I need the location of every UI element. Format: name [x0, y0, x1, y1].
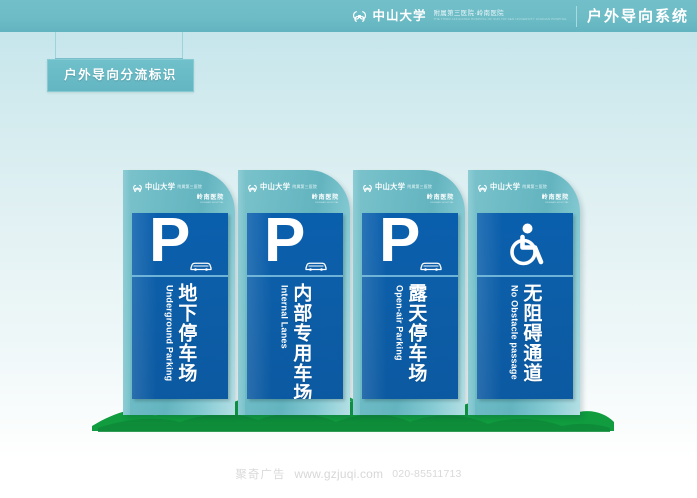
- sign-text-area: 无阻碍通道 No Obstacle passage: [477, 277, 573, 399]
- sign-hospital-block: 岭南医院 LINGNAN HOSPITAL: [542, 195, 571, 204]
- sign-label-cn: 内部专用车场: [291, 283, 311, 399]
- sign-text-area: 露天停车场 Open-air Parking: [362, 277, 458, 399]
- sign-hospital-cn: 岭南医院: [542, 195, 569, 201]
- parking-symbol: P: [264, 215, 326, 273]
- footer-url[interactable]: www.gzjuqi.com: [294, 467, 383, 481]
- sign-brand-sub: 附属第三医院: [292, 185, 317, 189]
- sign-header-row: 中山大学 附属第三医院: [362, 181, 456, 192]
- footer-company: 聚奇广告: [235, 466, 285, 482]
- sign-plate: P 露天停车场 Open-air P: [362, 213, 458, 399]
- sign-edge-highlight: [353, 170, 360, 415]
- sign-symbol-area: P: [362, 213, 458, 275]
- sign-hospital-block: 岭南医院 LINGNAN HOSPITAL: [197, 195, 226, 204]
- sign-brand-cn: 中山大学: [260, 183, 290, 190]
- footer: 聚奇广告 www.gzjuqi.com 020-85511713: [0, 463, 697, 485]
- parking-symbol: P: [379, 215, 441, 273]
- sign-plate: P 内部专用车场 Internal: [247, 213, 343, 399]
- wheelchair-icon: [505, 222, 545, 266]
- sign-hospital-en: LINGNAN HOSPITAL: [430, 202, 454, 204]
- sign-label-en: Open-air Parking: [395, 285, 404, 361]
- sign-text-area: 地下停车场 Underground Parking: [132, 277, 228, 399]
- suns-logo-icon: [247, 181, 258, 192]
- suns-logo-icon: [362, 181, 373, 192]
- sign-brand-cn: 中山大学: [490, 183, 520, 190]
- sign-header-row: 中山大学 附属第三医院: [477, 181, 571, 192]
- sign-post[interactable]: 中山大学 附属第三医院 岭南医院 LINGNAN HOSPITAL P: [353, 170, 465, 415]
- sign-symbol-area: P: [132, 213, 228, 275]
- parking-letter: P: [264, 213, 305, 270]
- footer-telephone: 020-85511713: [392, 468, 461, 480]
- sign-hospital-cn: 岭南医院: [312, 195, 339, 201]
- sign-post[interactable]: 中山大学 附属第三医院 岭南医院 LINGNAN HOSPITAL: [468, 170, 580, 415]
- poster-canvas: 中山大学 附属第三医院·岭南医院 THE THIRD AFFILIATED HO…: [0, 0, 697, 498]
- sign-post[interactable]: 中山大学 附属第三医院 岭南医院 LINGNAN HOSPITAL P: [238, 170, 350, 415]
- sign-header-row: 中山大学 附属第三医院: [132, 181, 226, 192]
- sign-label-cn: 无阻碍通道: [521, 283, 541, 383]
- sign-header: 中山大学 附属第三医院 岭南医院 LINGNAN HOSPITAL: [132, 181, 226, 207]
- sign-label-en: Underground Parking: [165, 285, 174, 381]
- sign-group: 中山大学 附属第三医院 岭南医院 LINGNAN HOSPITAL P: [0, 0, 697, 498]
- sign-hospital-cn: 岭南医院: [427, 195, 454, 201]
- sign-hospital-en: LINGNAN HOSPITAL: [315, 202, 339, 204]
- sign-label-cn: 地下停车场: [176, 283, 196, 383]
- sign-brand-cn: 中山大学: [375, 183, 405, 190]
- sign-hospital-cn: 岭南医院: [197, 195, 224, 201]
- sign-post[interactable]: 中山大学 附属第三医院 岭南医院 LINGNAN HOSPITAL P: [123, 170, 235, 415]
- parking-car-icon: [189, 259, 213, 271]
- sign-brand-sub: 附属第三医院: [522, 185, 547, 189]
- parking-symbol: P: [149, 215, 211, 273]
- sign-hospital-en: LINGNAN HOSPITAL: [200, 202, 224, 204]
- sign-symbol-area: [477, 213, 573, 275]
- sign-hospital-block: 岭南医院 LINGNAN HOSPITAL: [312, 195, 341, 204]
- sign-hospital-en: LINGNAN HOSPITAL: [545, 202, 569, 204]
- sign-hospital-block: 岭南医院 LINGNAN HOSPITAL: [427, 195, 456, 204]
- sign-header-row: 中山大学 附属第三医院: [247, 181, 341, 192]
- sign-symbol-area: P: [247, 213, 343, 275]
- parking-car-icon: [419, 259, 443, 271]
- sign-header: 中山大学 附属第三医院 岭南医院 LINGNAN HOSPITAL: [362, 181, 456, 207]
- sign-label-cn: 露天停车场: [406, 283, 426, 383]
- sign-edge-highlight: [468, 170, 475, 415]
- sign-header: 中山大学 附属第三医院 岭南医院 LINGNAN HOSPITAL: [477, 181, 571, 207]
- sign-brand-sub: 附属第三医院: [177, 185, 202, 189]
- sign-text-area: 内部专用车场 Internal Lanes: [247, 277, 343, 399]
- sign-edge-highlight: [238, 170, 245, 415]
- sign-label-en: Internal Lanes: [280, 285, 289, 349]
- parking-letter: P: [379, 213, 420, 270]
- parking-car-icon: [304, 259, 328, 271]
- suns-logo-icon: [132, 181, 143, 192]
- sign-brand-sub: 附属第三医院: [407, 185, 432, 189]
- sign-plate: P 地下停车场 Undergroun: [132, 213, 228, 399]
- sign-brand-cn: 中山大学: [145, 183, 175, 190]
- sign-label-en: No Obstacle passage: [510, 285, 519, 380]
- suns-logo-icon: [477, 181, 488, 192]
- sign-header: 中山大学 附属第三医院 岭南医院 LINGNAN HOSPITAL: [247, 181, 341, 207]
- parking-letter: P: [149, 213, 190, 270]
- sign-edge-highlight: [123, 170, 130, 415]
- sign-plate: 无阻碍通道 No Obstacle passage: [477, 213, 573, 399]
